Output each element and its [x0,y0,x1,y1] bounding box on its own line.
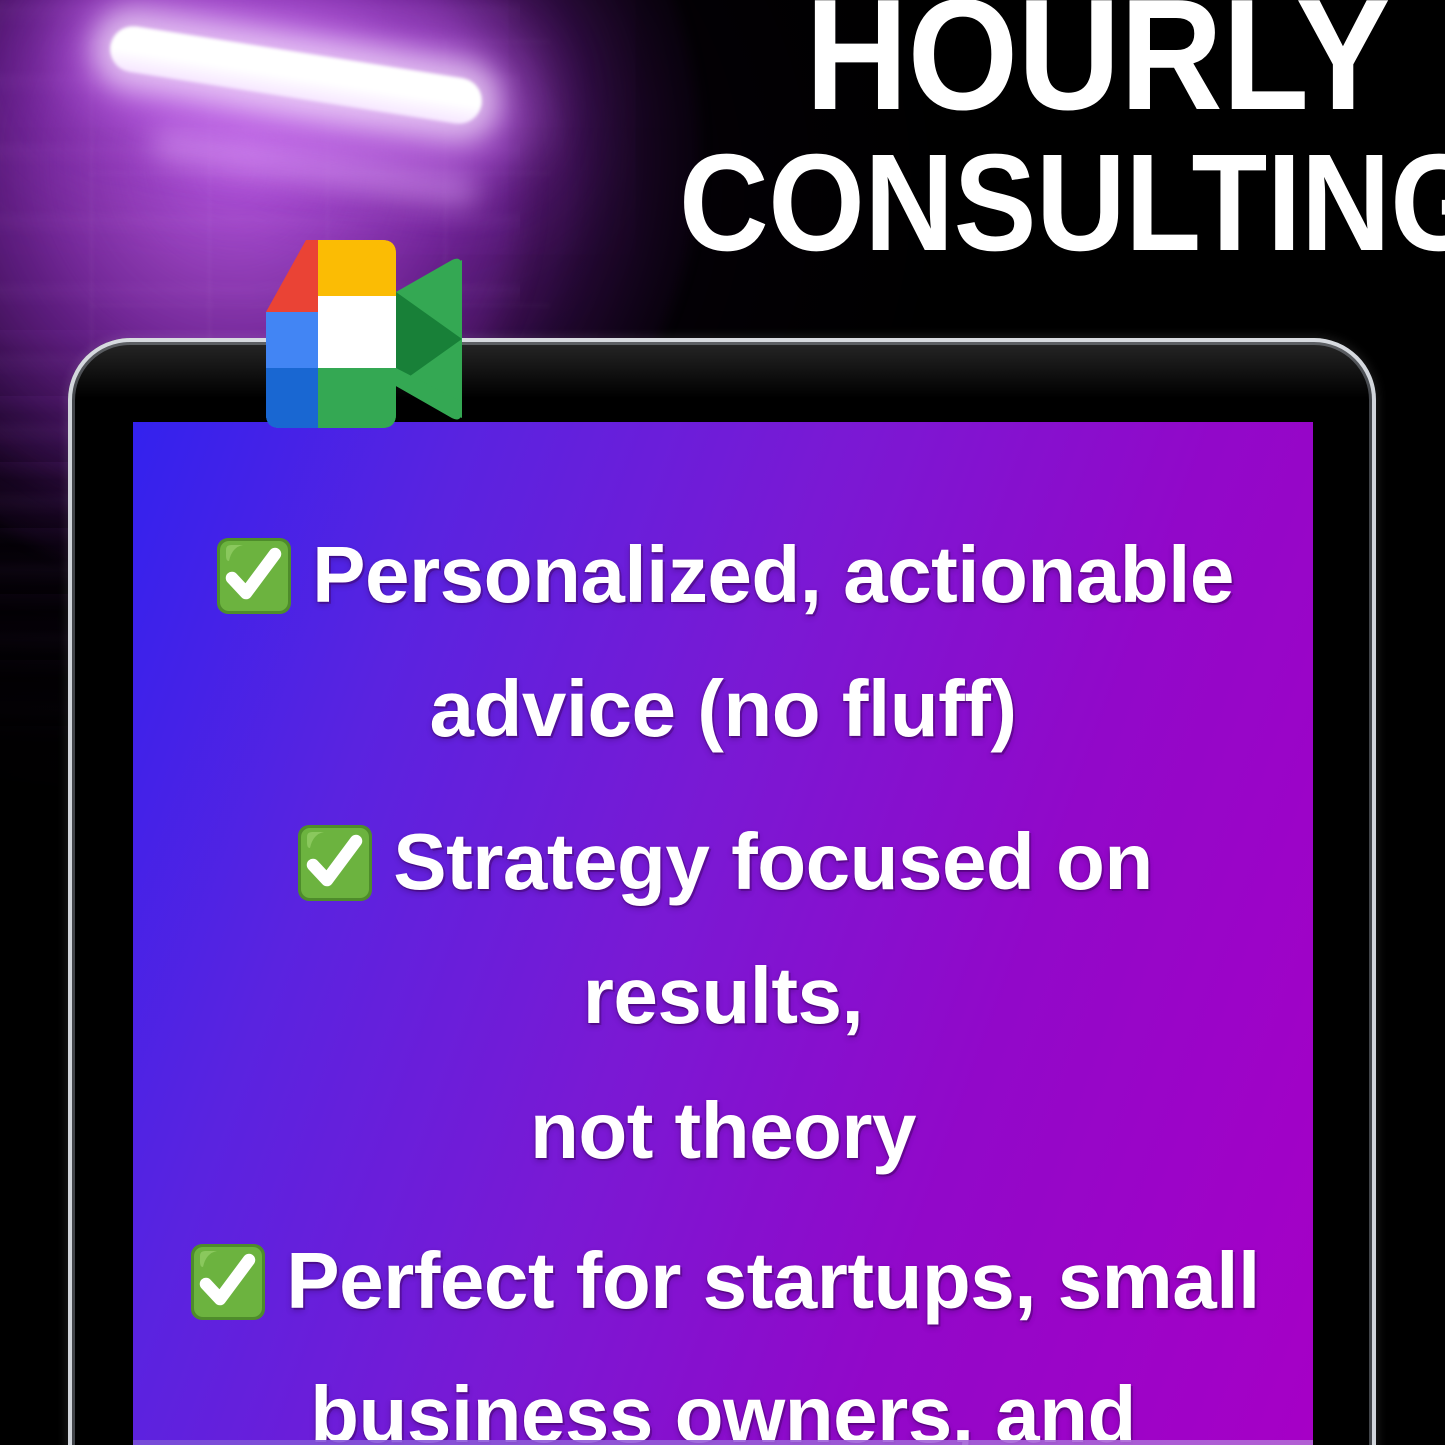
bullet-2-line-1: Strategy focused on results, [393,817,1153,1040]
white-check-mark-icon [186,1240,270,1324]
google-meet-logo-icon [214,232,466,440]
page-title: HOURLY CONSULTING [600,0,1390,259]
bullet-1-line-1: Personalized, actionable [312,530,1234,619]
white-check-mark-icon [212,534,296,618]
white-check-mark-icon [293,821,377,905]
headline-line-2: CONSULTING [679,148,1390,258]
poster-canvas: HOURLY CONSULTING Personalized, actionab… [0,0,1445,1445]
bullet-item-1: Personalized, actionable advice (no fluf… [133,508,1313,777]
tablet-screen: Personalized, actionable advice (no fluf… [133,422,1313,1445]
bullet-3-line-2: business owners, and creators [159,1348,1287,1445]
bullet-item-3: Perfect for startups, small business own… [133,1214,1313,1445]
bullet-2-line-2: not theory [159,1064,1287,1198]
bullet-item-2: Strategy focused on results, not theory [133,795,1313,1198]
bullet-3-line-1: Perfect for startups, small [286,1236,1260,1325]
bullet-1-line-2: advice (no fluff) [159,642,1287,776]
screen-bottom-strip [133,1440,1313,1445]
headline-line-1: HOURLY [679,0,1390,118]
